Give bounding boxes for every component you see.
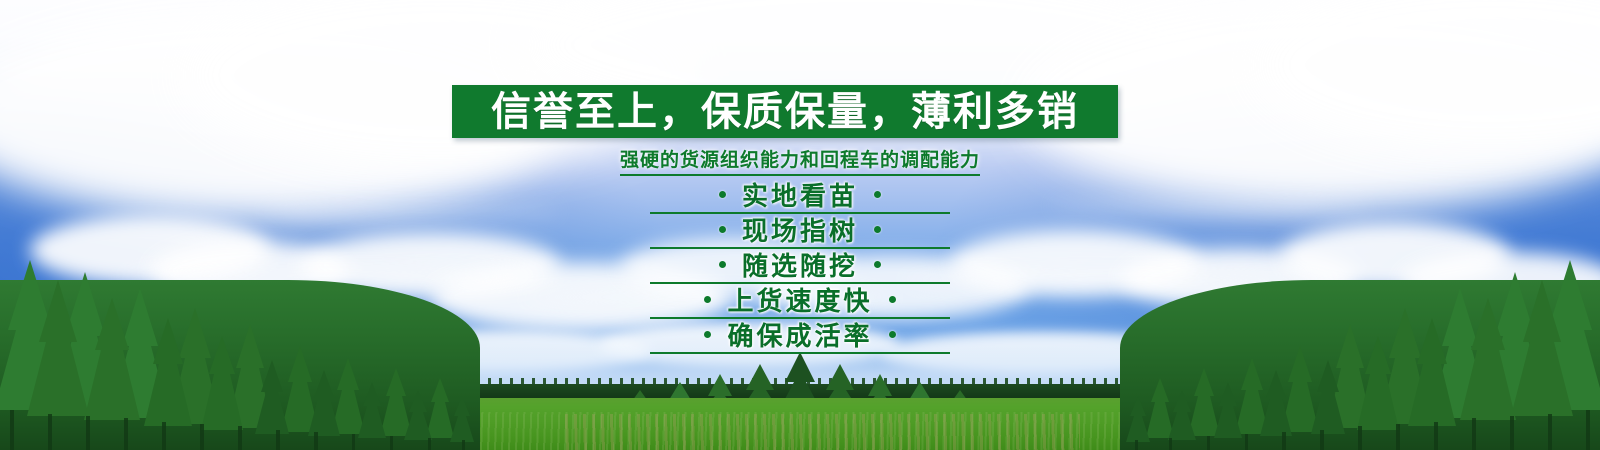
bullet-dot-icon xyxy=(874,191,881,198)
feature-inner: 现场指树 xyxy=(650,213,950,249)
headline-bar: 信誉至上，保质保量，薄利多销 xyxy=(452,85,1118,138)
bullet-dot-icon xyxy=(889,331,896,338)
bullet-dot-icon xyxy=(874,261,881,268)
feature-label: 现场指树 xyxy=(742,211,858,248)
list-item: 随选随挖 xyxy=(0,248,1600,283)
bullet-dot-icon xyxy=(719,191,726,198)
subtitle: 强硬的货源组织能力和回程车的调配能力 xyxy=(0,145,1600,176)
list-item: 现场指树 xyxy=(0,213,1600,248)
bullet-dot-icon xyxy=(704,331,711,338)
bullet-dot-icon xyxy=(719,226,726,233)
subtitle-text: 强硬的货源组织能力和回程车的调配能力 xyxy=(620,145,980,176)
banner-content: 信誉至上，保质保量，薄利多销 强硬的货源组织能力和回程车的调配能力 实地看苗 现… xyxy=(0,0,1600,450)
feature-label: 实地看苗 xyxy=(742,176,858,213)
list-item: 确保成活率 xyxy=(0,318,1600,353)
feature-inner: 随选随挖 xyxy=(650,248,950,284)
feature-inner: 实地看苗 xyxy=(650,178,950,214)
page-title: 信誉至上，保质保量，薄利多销 xyxy=(491,92,1079,132)
bullet-dot-icon xyxy=(719,261,726,268)
feature-list: 实地看苗 现场指树 随选随挖 xyxy=(0,178,1600,353)
bullet-dot-icon xyxy=(874,226,881,233)
feature-label: 随选随挖 xyxy=(742,246,858,283)
feature-inner: 上货速度快 xyxy=(650,283,950,319)
list-item: 上货速度快 xyxy=(0,283,1600,318)
feature-label: 上货速度快 xyxy=(727,281,872,318)
list-item: 实地看苗 xyxy=(0,178,1600,213)
bullet-dot-icon xyxy=(889,296,896,303)
bullet-dot-icon xyxy=(704,296,711,303)
feature-inner: 确保成活率 xyxy=(650,318,950,354)
feature-label: 确保成活率 xyxy=(727,316,872,353)
promo-banner: 信誉至上，保质保量，薄利多销 强硬的货源组织能力和回程车的调配能力 实地看苗 现… xyxy=(0,0,1600,450)
